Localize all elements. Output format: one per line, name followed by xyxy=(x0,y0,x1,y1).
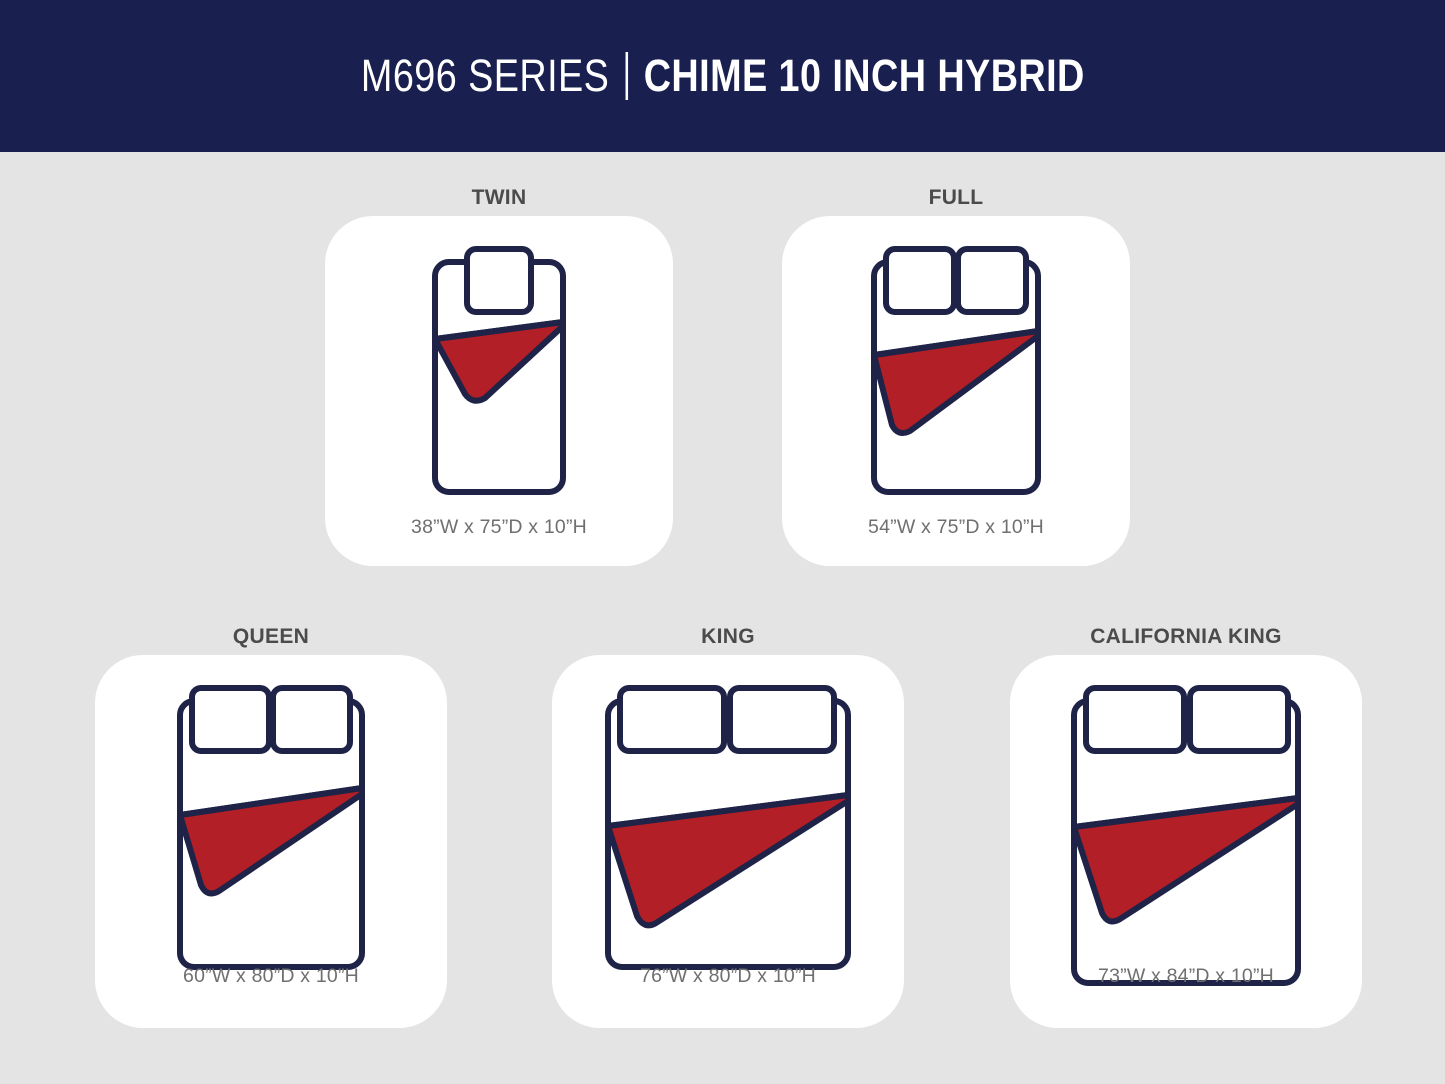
header-divider xyxy=(625,52,628,100)
size-card-label: TWIN xyxy=(325,186,673,210)
size-card-label: QUEEN xyxy=(95,625,447,649)
size-card-full[interactable]: FULL 54”W x 75”D x 10”H xyxy=(782,186,1130,580)
size-card-panel xyxy=(325,216,673,566)
size-card-dimensions: 60”W x 80”D x 10”H xyxy=(95,965,447,988)
bed-illustration-twin xyxy=(325,216,673,566)
mattress-size-chart: M696 SERIES CHIME 10 INCH HYBRID TWIN xyxy=(0,0,1445,1084)
size-card-label: KING xyxy=(552,625,904,649)
size-card-king[interactable]: KING 76”W x 80”D x 10”H xyxy=(552,625,904,1045)
header-bar: M696 SERIES CHIME 10 INCH HYBRID xyxy=(0,0,1445,152)
header-series-label: M696 SERIES xyxy=(361,50,609,102)
bed-icon xyxy=(782,216,1130,566)
header-title: M696 SERIES CHIME 10 INCH HYBRID xyxy=(361,50,1085,102)
size-card-dimensions: 38”W x 75”D x 10”H xyxy=(325,516,673,539)
size-card-queen[interactable]: QUEEN 60”W x 80”D x 10”H xyxy=(95,625,447,1045)
size-card-dimensions: 73”W x 84”D x 10”H xyxy=(1010,965,1362,988)
bed-icon xyxy=(325,216,673,566)
size-card-dimensions: 76”W x 80”D x 10”H xyxy=(552,965,904,988)
header-model-label: CHIME 10 INCH HYBRID xyxy=(643,50,1084,102)
size-card-california-king[interactable]: CALIFORNIA KING 73”W x 84”D x 10”H xyxy=(1010,625,1362,1045)
size-card-label: FULL xyxy=(782,186,1130,210)
size-card-panel xyxy=(782,216,1130,566)
size-card-twin[interactable]: TWIN 38”W x 75”D x 10”H xyxy=(325,186,673,580)
size-card-dimensions: 54”W x 75”D x 10”H xyxy=(782,516,1130,539)
size-card-label: CALIFORNIA KING xyxy=(1010,625,1362,649)
bed-illustration-full xyxy=(782,216,1130,566)
